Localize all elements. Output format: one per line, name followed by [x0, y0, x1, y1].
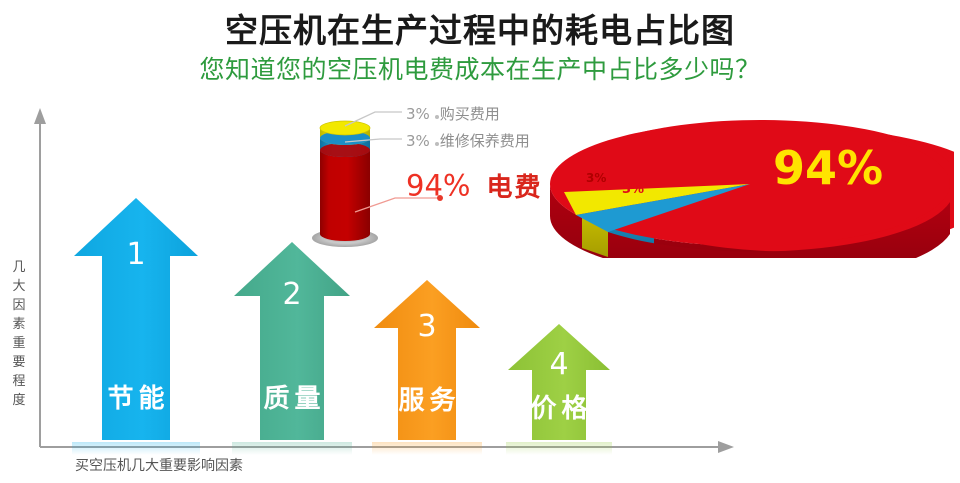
callout-electricity-percent: 94%	[406, 169, 470, 203]
callout-electricity: 94%电费	[406, 167, 542, 204]
pie-chart	[546, 112, 954, 262]
callout-purchase-name: 购买费用	[440, 105, 500, 123]
callout-maintenance-name: 维修保养费用	[440, 132, 530, 150]
callout-maintenance: 3%维修保养费用	[406, 130, 530, 151]
callout-purchase-percent: 3%	[406, 105, 430, 123]
infographic-canvas: 空压机在生产过程中的耗电占比图 您知道您的空压机电费成本在生产中占比多少吗？ 几…	[0, 0, 960, 483]
callout-purchase: 3%购买费用	[406, 103, 500, 124]
callout-maintenance-percent: 3%	[406, 132, 430, 150]
pie-label-purchase: 3%	[586, 171, 606, 185]
pie-label-electricity: 94%	[773, 141, 883, 195]
callout-electricity-name: 电费	[486, 173, 542, 203]
pie-label-maintenance: 3%	[622, 182, 644, 197]
